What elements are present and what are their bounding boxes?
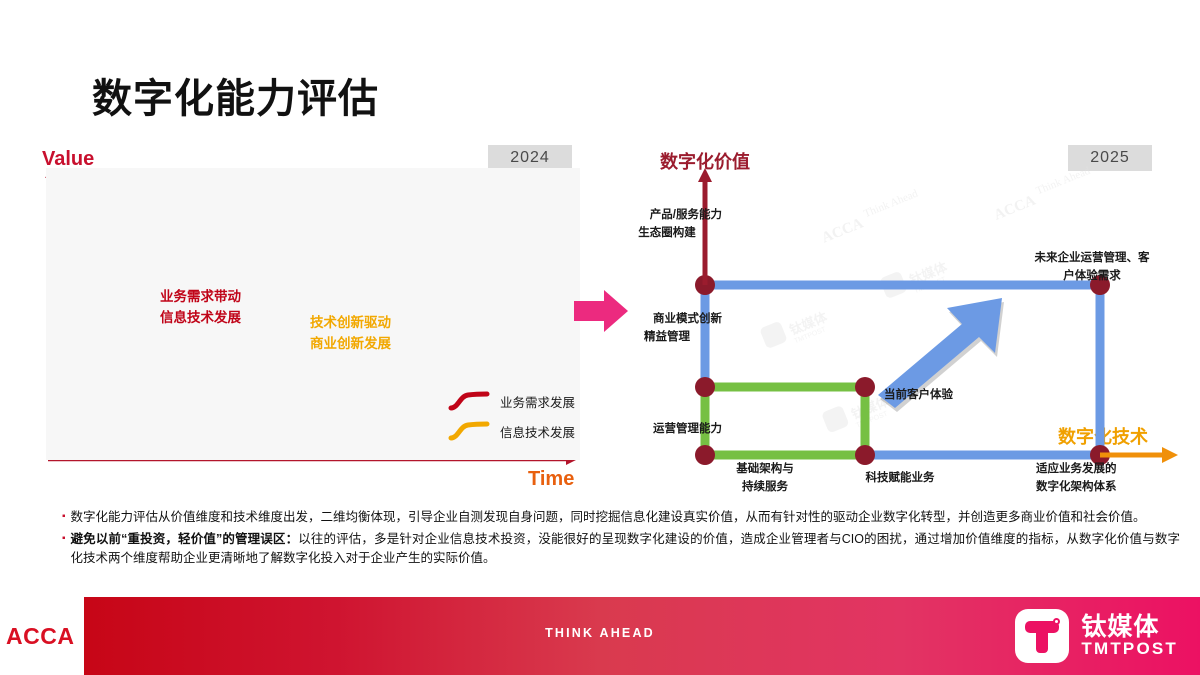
legend-item-demand: 业务需求发展	[448, 386, 575, 416]
legend-swatch-demand	[448, 390, 490, 412]
right-chart-label-infrastructure: 基础架构与 持续服务	[700, 461, 830, 497]
node-operation-capability	[695, 377, 715, 397]
label-infra-line2: 持续服务	[700, 479, 830, 497]
right-chart-label-operation-capability: 运营管理能力	[612, 421, 722, 439]
svg-text:ACCA: ACCA	[992, 193, 1038, 224]
label-adaptive-line1: 适应业务发展的	[1036, 461, 1117, 479]
bullet-text-1: 数字化能力评估从价值维度和技术维度出发，二维均衡体现，引导企业自测发现自身问题，…	[71, 508, 1146, 527]
bullet-text-2: 避免以前“重投资，轻价值”的管理误区：以往的评估，多是针对企业信息技术投资，没能…	[71, 530, 1180, 568]
left-chart-legend: 业务需求发展 信息技术发展	[448, 386, 575, 446]
right-chart-label-product-capability: 产品/服务能力 生态圈构建	[612, 207, 722, 243]
bullet-item-2: ▪ 避免以前“重投资，轻价值”的管理误区：以往的评估，多是针对企业信息技术投资，…	[62, 530, 1180, 568]
slide-canvas: 数字化能力评估 2024 Value Time ACCA Think Ahead…	[0, 0, 1200, 675]
label-tech-enabled-line1: 科技赋能业务	[830, 470, 970, 488]
body-text-block: ▪ 数字化能力评估从价值维度和技术维度出发，二维均衡体现，引导企业自测发现自身问…	[62, 508, 1180, 570]
label-product-line1: 产品/服务能力	[612, 207, 722, 225]
right-chart-label-current-experience: 当前客户体验	[884, 387, 953, 405]
tmtpost-mark-icon	[1015, 609, 1069, 663]
right-chart-axes	[698, 168, 1178, 463]
left-chart-x-axis-label: Time	[528, 468, 574, 491]
legend-label-it: 信息技术发展	[500, 422, 575, 441]
node-current-experience	[855, 377, 875, 397]
label-business-line2: 精益管理	[612, 329, 722, 347]
label-operation-line1: 运营管理能力	[612, 421, 722, 439]
svg-text:Think Ahead: Think Ahead	[862, 187, 920, 220]
label-adaptive-line2: 数字化架构体系	[1036, 479, 1117, 497]
right-chart-label-tech-enabled: 科技赋能业务	[830, 470, 970, 488]
tmtpost-wordmark: 钛媒体 TMTPOST	[1081, 615, 1178, 658]
annotation-demand-line1: 业务需求带动	[160, 287, 241, 308]
annotation-tech-line1: 技术创新驱动	[310, 313, 391, 334]
node-infrastructure	[855, 445, 875, 465]
page-title: 数字化能力评估	[92, 76, 379, 122]
node-group	[695, 275, 1110, 465]
label-future-line1: 未来企业运营管理、客	[1002, 250, 1182, 268]
annotation-demand-line2: 信息技术发展	[160, 308, 241, 329]
bullet-2-bold-prefix: 避免以前“重投资，轻价值”的管理误区：	[71, 532, 299, 546]
right-chart-label-future-demand: 未来企业运营管理、客 户体验需求	[1002, 250, 1182, 286]
svg-text:Think Ahead: Think Ahead	[1034, 165, 1092, 198]
bullet-item-1: ▪ 数字化能力评估从价值维度和技术维度出发，二维均衡体现，引导企业自测发现自身问…	[62, 508, 1180, 527]
label-product-line2: 生态圈构建	[612, 225, 722, 243]
left-chart-annotation-demand: 业务需求带动 信息技术发展	[160, 287, 241, 329]
tmtpost-cn: 钛媒体	[1081, 615, 1178, 641]
outer-box-blue	[705, 285, 1100, 455]
label-business-line1: 商业模式创新	[612, 311, 722, 329]
left-chart-annotation-tech: 技术创新驱动 商业创新发展	[310, 313, 391, 355]
legend-item-it: 信息技术发展	[448, 416, 575, 446]
label-future-line2: 户体验需求	[1002, 268, 1182, 286]
legend-label-demand: 业务需求发展	[500, 392, 575, 411]
svg-text:ACCA: ACCA	[820, 215, 866, 246]
bullet-marker-1: ▪	[62, 508, 66, 526]
annotation-tech-line2: 商业创新发展	[310, 334, 391, 355]
tmtpost-en: TMTPOST	[1081, 640, 1178, 657]
legend-swatch-it	[448, 420, 490, 442]
label-infra-line1: 基础架构与	[700, 461, 830, 479]
right-chart-label-adaptive-arch: 适应业务发展的 数字化架构体系	[1036, 461, 1117, 497]
bullet-marker-2: ▪	[62, 530, 66, 548]
right-chart-label-business-model: 商业模式创新 精益管理	[612, 311, 722, 347]
footer-bar: ACCA THINK AHEAD 钛媒体 TMTPOST	[0, 597, 1200, 675]
tmtpost-logo: 钛媒体 TMTPOST	[1015, 609, 1178, 663]
